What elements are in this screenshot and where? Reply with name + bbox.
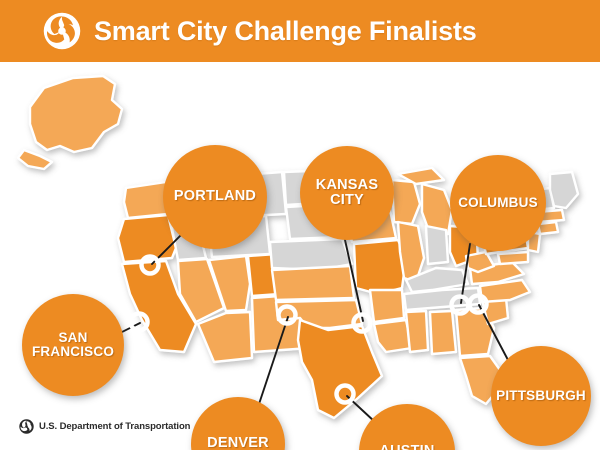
city-bubble-label: PORTLAND [174, 189, 256, 204]
state-indiana [426, 226, 448, 264]
state-kansas [272, 266, 354, 300]
footer-agency-credit: U.S. Department of Transportation [19, 419, 190, 434]
city-bubble-kansas-city[interactable]: KANSASCITY [300, 146, 394, 240]
map-container: PORTLANDKANSASCITYCOLUMBUSSANFRANCISCOPI… [0, 62, 600, 450]
state-wisconsin [392, 180, 420, 224]
page-header: Smart City Challenge Finalists [0, 0, 600, 62]
dot-triskelion-logo-icon [19, 419, 34, 434]
state-alabama [430, 311, 456, 354]
state-alaska [30, 76, 122, 152]
city-bubble-label-line: COLUMBUS [458, 196, 538, 210]
city-bubble-label-line: KANSAS [316, 178, 378, 193]
city-bubble-label: SANFRANCISCO [32, 331, 114, 360]
city-bubble-label: COLUMBUS [458, 196, 538, 210]
dot-triskelion-logo-icon [43, 12, 81, 50]
footer-agency-label: U.S. Department of Transportation [39, 421, 190, 432]
city-bubble-label-line: SAN [32, 331, 114, 345]
city-bubble-label-line: PORTLAND [174, 189, 256, 204]
screenshot-root: Smart City Challenge Finalists [0, 0, 600, 450]
city-bubble-label: DENVER [207, 436, 269, 450]
city-bubble-label-line: DENVER [207, 436, 269, 450]
state-alaska-tail [18, 150, 52, 169]
city-bubble-columbus[interactable]: COLUMBUS [450, 155, 546, 251]
city-bubble-label-line: CITY [316, 193, 378, 208]
city-bubble-label: AUSTIN [379, 444, 434, 450]
city-bubble-portland[interactable]: PORTLAND [163, 145, 267, 249]
state-maryland [498, 252, 528, 264]
city-bubble-pittsburgh[interactable]: PITTSBURGH [491, 346, 591, 446]
state-arkansas [370, 290, 404, 322]
city-bubble-san-francisco[interactable]: SANFRANCISCO [22, 294, 124, 396]
city-bubble-label-line: FRANCISCO [32, 345, 114, 359]
state-missouri [354, 240, 406, 294]
city-bubble-label: KANSASCITY [316, 178, 378, 209]
state-arizona [198, 312, 252, 362]
page-title: Smart City Challenge Finalists [94, 18, 477, 45]
city-bubble-label: PITTSBURGH [496, 389, 586, 403]
state-mississippi [406, 311, 428, 352]
state-maine [550, 172, 578, 208]
city-bubble-label-line: AUSTIN [379, 444, 434, 450]
city-bubble-label-line: PITTSBURGH [496, 389, 586, 403]
